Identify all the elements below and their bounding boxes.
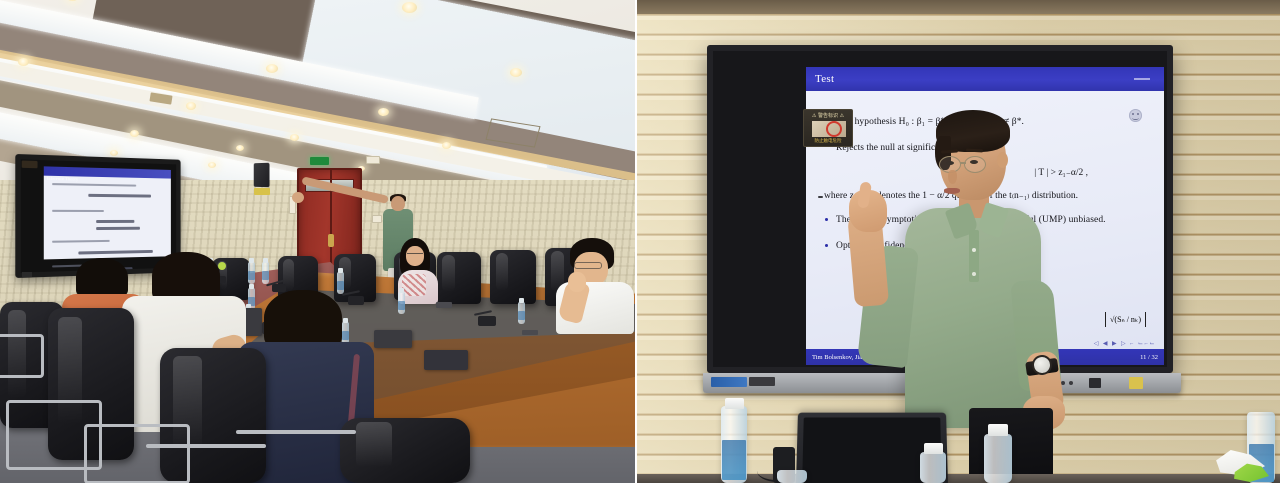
warning-prohibition-circle-icon [826,121,842,137]
coffered-ceiling [0,0,635,180]
presenter-nose [948,170,957,184]
attendee-hair [264,290,342,350]
recessed-ceiling-light [186,102,196,110]
slide-equation-line [96,227,140,230]
water-bottle[interactable] [984,434,1012,483]
presenter-ear [997,152,1008,168]
display-yellow-sticker [1129,377,1143,389]
slide-footer-page: 11 / 32 [1140,354,1158,361]
attendee-white-polo-glasses [556,238,635,334]
slide-equation-line [88,194,151,198]
attendee-hair [76,258,128,298]
wall-outlet-plate[interactable] [372,215,382,223]
slide-nav-glyphs[interactable]: ◁ ◀ ▶ ▷ ⌐ ⌙⌐⌙ [1094,340,1156,347]
slide-matrix-expression: √(Sₙ / nₖ) [1105,312,1146,327]
smiley-face-icon [1129,109,1142,122]
polo-button [972,248,976,252]
flip-up-monitor[interactable] [424,350,468,370]
recessed-ceiling-light [66,0,79,1]
water-bottle[interactable] [262,262,269,284]
right-photo-presenter-closeup: Test Test hypothesis H₀ : β₁ = β* versus… [637,0,1280,483]
table-cable-port [436,302,452,308]
warning-sticker-top-text: ⚠ 警告标识 ⚠ [804,112,852,120]
recessed-ceiling-light [290,134,299,141]
conference-microphone-base[interactable] [478,316,496,326]
chair-sled-base [0,334,44,378]
left-presenter-pointing-hand [292,192,304,203]
table-cable-port [522,330,538,335]
attendee-floral-pattern [402,274,426,296]
water-bottle[interactable] [398,292,405,314]
slide-title-left: Inference Theory [47,176,78,182]
slide-text-line [52,240,110,243]
chair-armrest [236,430,356,434]
emergency-exit-sign [310,157,329,165]
left-photo-conference-room: Inference Theory [0,0,635,483]
display-wall-bracket [22,272,32,277]
recessed-ceiling-light [110,150,118,156]
bottle-cap[interactable] [988,424,1008,436]
slide-title-bar: Test [806,67,1164,91]
water-bottle-cap-only[interactable] [777,470,807,483]
bottle-cap[interactable] [924,443,943,454]
display-brand-logo-icon [22,160,38,168]
flip-up-monitor[interactable] [374,330,412,348]
glasses-bridge [960,162,966,164]
slide-title-bar: Inference Theory [44,166,171,178]
chair-sled-base [84,424,190,483]
slide-header-accent [1134,78,1150,80]
display-model-label [749,377,775,386]
two-photo-composite: Inference Theory [0,0,1280,483]
recessed-ceiling-light [18,58,29,66]
attendee-glasses-icon [574,262,602,269]
warning-sticker-bottom-text: 防止触电危险 [804,138,852,145]
door-handle[interactable] [328,234,334,247]
wall-yellow-label [254,188,270,195]
display-brand-badge [711,377,747,387]
slide-text-line [52,183,136,187]
display-control-button[interactable] [1069,381,1073,385]
display-ir-sensor [818,196,823,198]
bottle-cap[interactable] [725,398,744,409]
recessed-ceiling-light [208,162,216,168]
display-usb-port[interactable] [1089,378,1101,388]
recessed-ceiling-light [402,2,417,13]
glasses-lens-right-icon [964,156,986,173]
ceiling-edge [637,0,1280,14]
bottle-label [722,440,746,480]
left-presenter-head [391,196,405,211]
recessed-ceiling-light [236,145,244,151]
polo-button [972,272,976,276]
recessed-ceiling-light [130,130,139,137]
presenter-mouth [944,188,960,194]
recessed-ceiling-light [442,142,451,149]
attendee-glasses-icon [407,253,423,257]
empty-chair[interactable] [437,252,481,304]
attendee-hand-on-chin [568,272,586,292]
display-control-button[interactable] [1061,381,1065,385]
slide-text-line [52,210,104,212]
display-warning-sticker: ⚠ 警告标识 ⚠ 防止触电危险 [803,109,853,147]
recessed-ceiling-light [378,108,389,116]
water-bottle[interactable] [518,302,525,324]
slide-equation-line [96,220,134,223]
water-bottle[interactable] [920,452,946,483]
wall-speaker [254,163,270,187]
foreground-chair[interactable] [340,418,470,483]
projected-slide-left: Inference Theory [44,166,171,259]
empty-chair[interactable] [490,250,536,304]
slide-title: Test [815,73,834,85]
wall-sensor [366,156,380,164]
recessed-ceiling-light [510,68,522,77]
recessed-ceiling-light [266,64,278,73]
